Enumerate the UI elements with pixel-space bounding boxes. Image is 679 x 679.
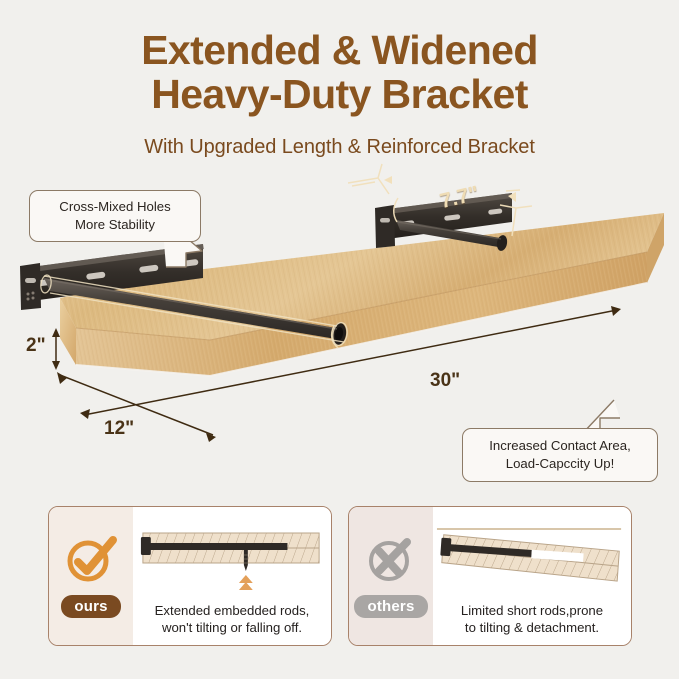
panel-others-caption: Limited short rods,prone to tilting & de… (433, 602, 631, 637)
badge-ours: ours (61, 595, 120, 618)
cross-section-others (433, 507, 631, 603)
bracket-left-plate-2 (375, 205, 395, 248)
dimension-label-depth: 12" (104, 418, 134, 440)
panel-others-caption-line-1: Limited short rods,prone (439, 602, 625, 620)
callout-left-line-2: More Stability (59, 216, 170, 234)
cross-section-ours (133, 507, 331, 603)
callout-right-line-1: Increased Contact Area, (489, 437, 630, 455)
up-arrow-icon (239, 575, 253, 590)
comparison-panel-others: others (348, 506, 632, 646)
headline-line-1: Extended & Widened (141, 27, 538, 73)
check-circle-icon (63, 534, 119, 586)
infographic-canvas: Extended & Widened Heavy-Duty Bracket Wi… (0, 0, 679, 679)
bracket-left-plate (20, 263, 41, 310)
x-circle-icon (363, 534, 419, 586)
callout-increased-contact-area: Increased Contact Area, Load-Capccity Up… (462, 428, 658, 482)
panel-ours-badge-column: ours (49, 507, 133, 645)
panel-others-caption-line-2: to tilting & detachment. (439, 619, 625, 637)
panel-others-diagram-column: Limited short rods,prone to tilting & de… (433, 507, 631, 645)
page-title: Extended & Widened Heavy-Duty Bracket (0, 28, 679, 117)
callout-left-line-1: Cross-Mixed Holes (59, 198, 170, 216)
callout-cross-mixed-holes: Cross-Mixed Holes More Stability (29, 190, 201, 242)
comparison-panel-ours: ours (48, 506, 332, 646)
panel-ours-caption: Extended embedded rods, won't tilting or… (133, 602, 331, 637)
panel-ours-diagram-column: Extended embedded rods, won't tilting or… (133, 507, 331, 645)
dimension-label-length: 30" (430, 370, 460, 392)
badge-others: others (354, 595, 427, 618)
dimension-label-thickness: 2" (26, 335, 46, 357)
headline-line-2: Heavy-Duty Bracket (0, 72, 679, 116)
panel-others-badge-column: others (349, 507, 433, 645)
panel-ours-caption-line-1: Extended embedded rods, (139, 602, 325, 620)
panel-ours-caption-line-2: won't tilting or falling off. (139, 619, 325, 637)
callout-right-line-2: Load-Capccity Up! (489, 455, 630, 473)
